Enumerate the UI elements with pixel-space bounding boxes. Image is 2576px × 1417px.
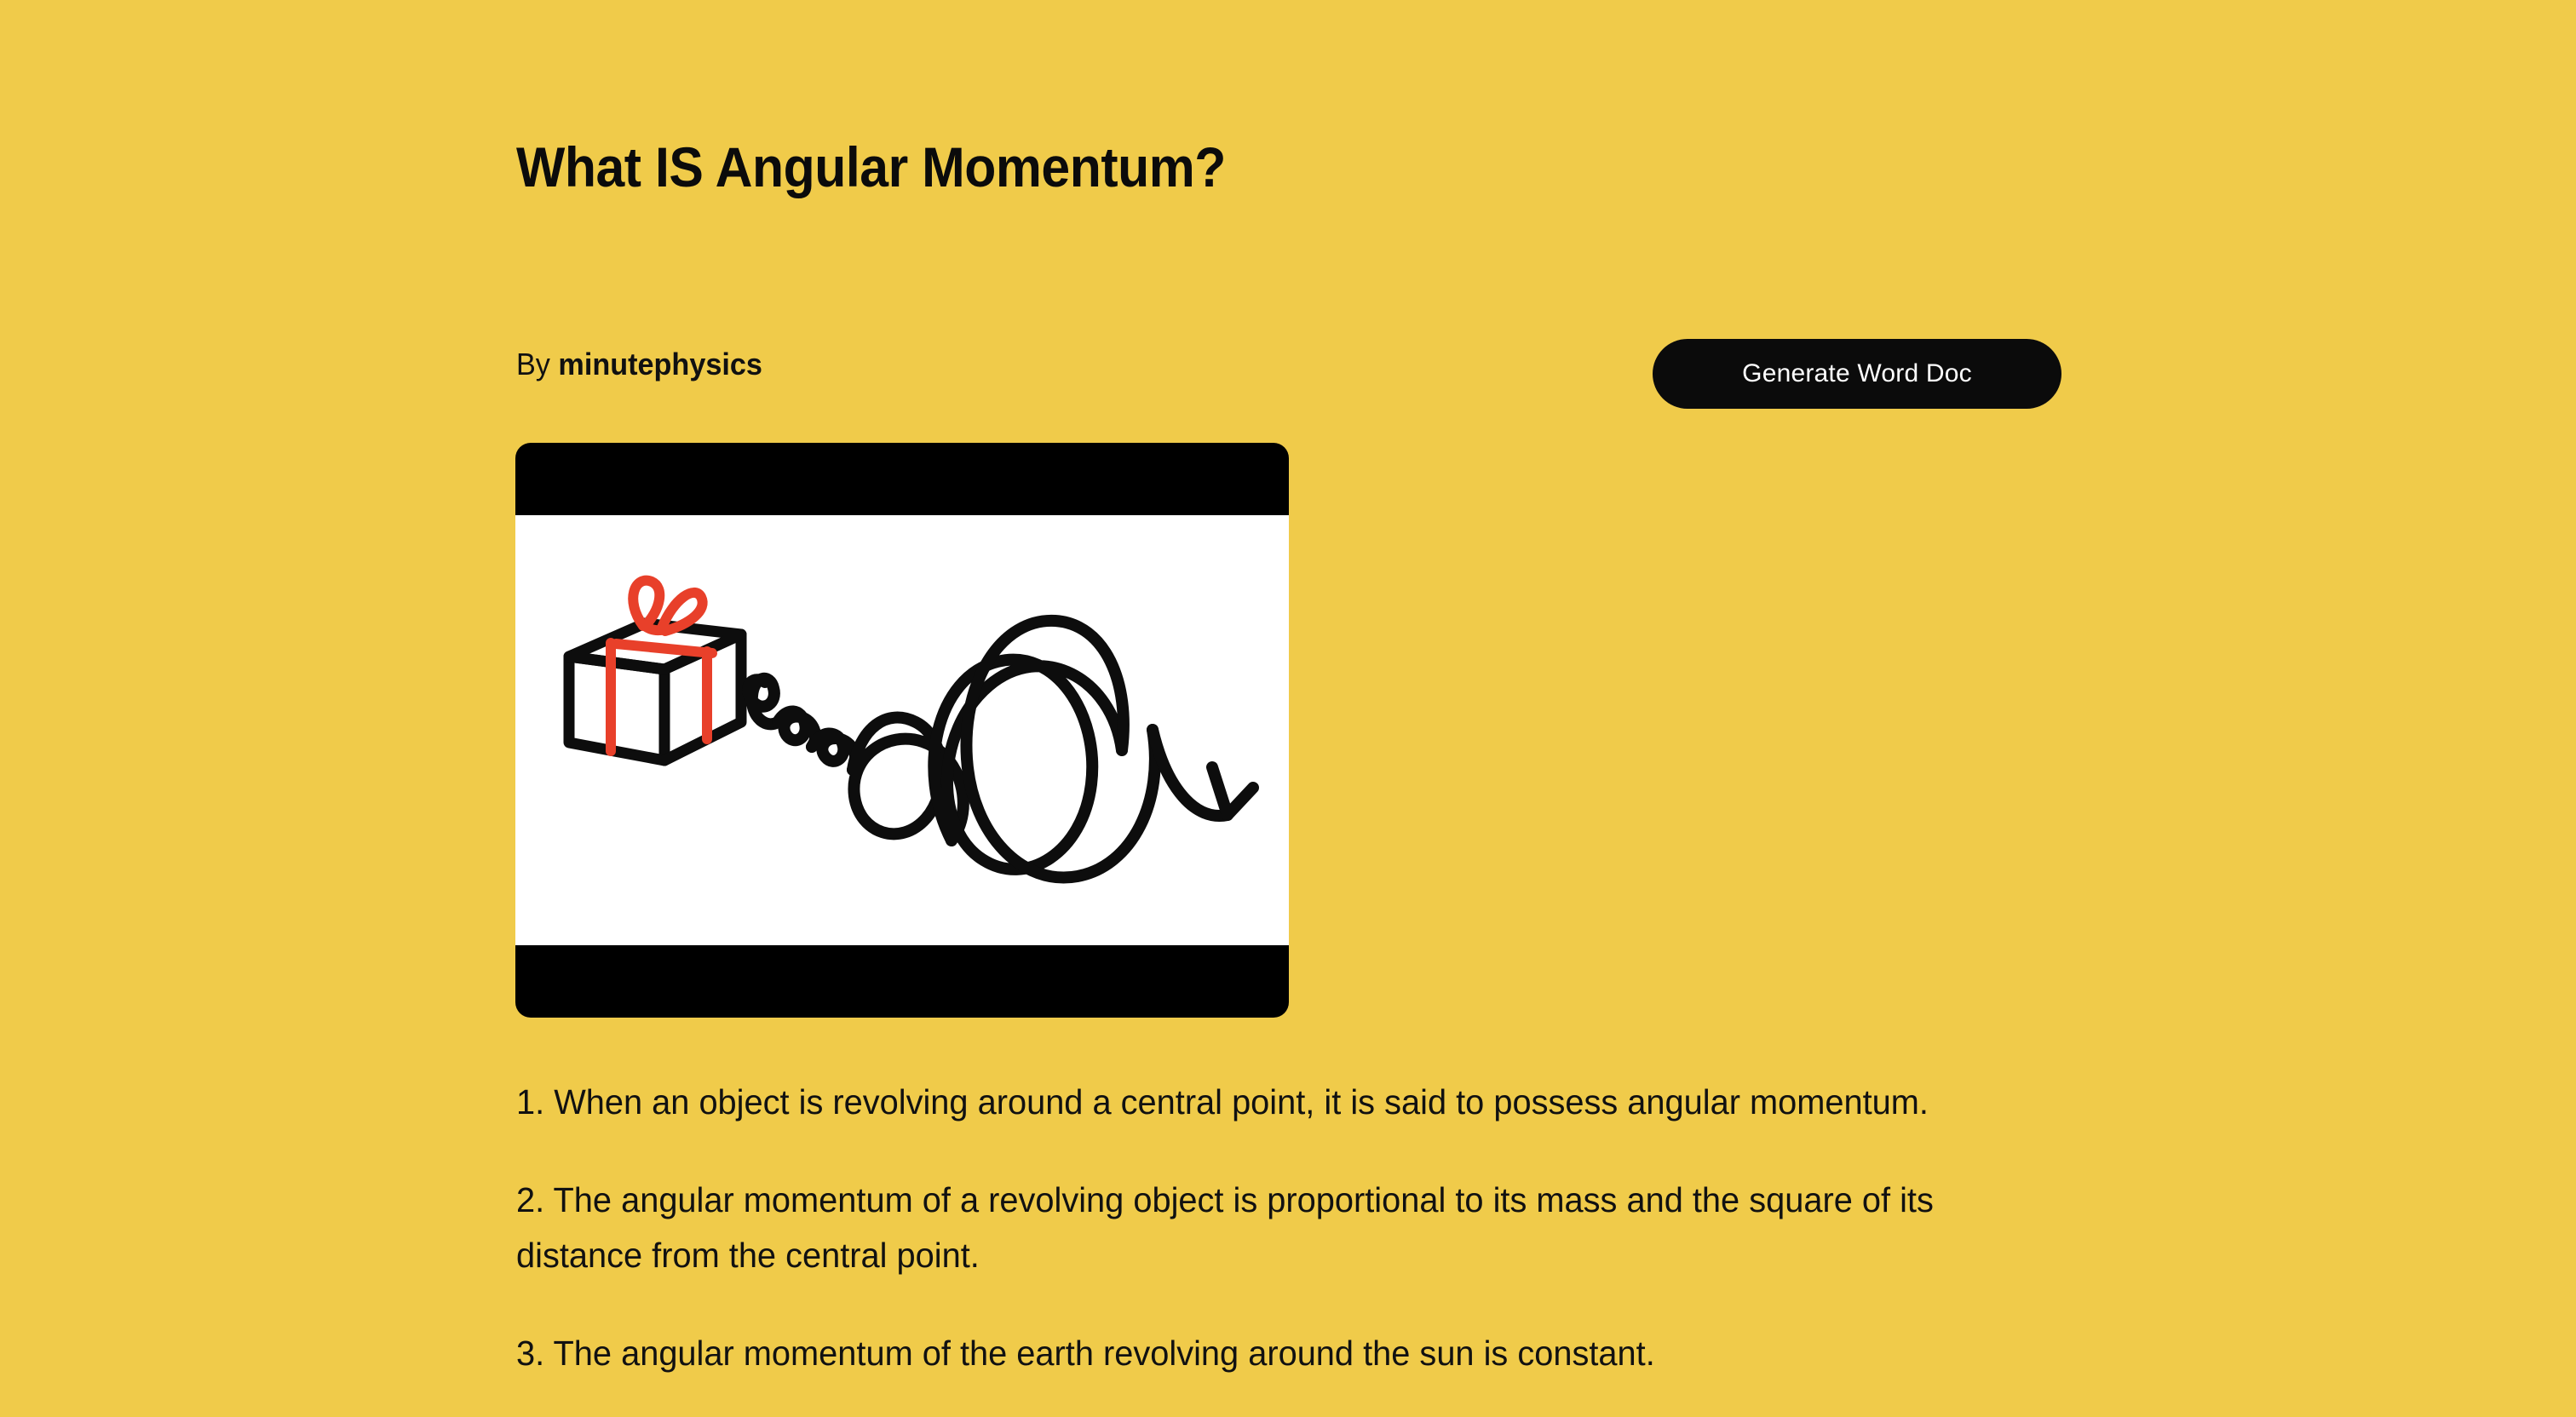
- byline-prefix: By: [516, 347, 550, 381]
- summary-point: 1. When an object is revolving around a …: [516, 1075, 2028, 1130]
- summary-point: 2. The angular momentum of a revolving o…: [516, 1173, 2028, 1283]
- angular-momentum-sketch-icon: [515, 515, 1289, 945]
- summary-list: 1. When an object is revolving around a …: [516, 1075, 2075, 1381]
- page-root: What IS Angular Momentum? By minutephysi…: [0, 0, 2576, 1417]
- thumbnail-canvas: [515, 515, 1289, 945]
- channel-name: minutephysics: [558, 347, 762, 381]
- page-title: What IS Angular Momentum?: [516, 136, 1226, 198]
- summary-point: 3. The angular momentum of the earth rev…: [516, 1326, 2028, 1381]
- byline: By minutephysics: [516, 346, 762, 382]
- video-thumbnail[interactable]: [515, 443, 1289, 1018]
- generate-word-doc-button[interactable]: Generate Word Doc: [1653, 339, 2061, 409]
